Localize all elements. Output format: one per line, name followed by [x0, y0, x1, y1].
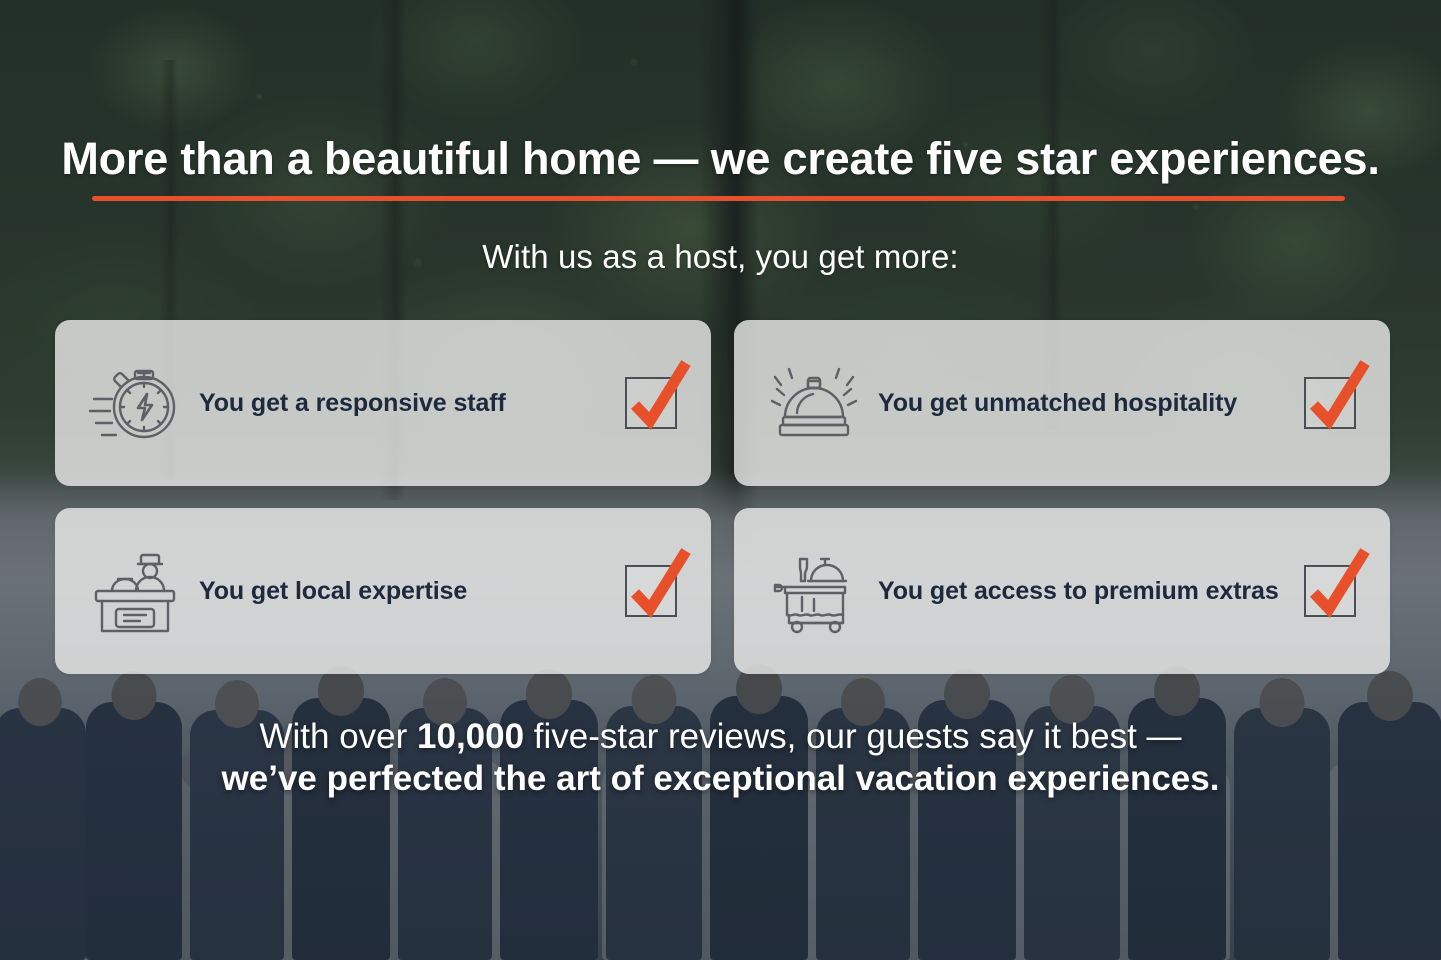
benefit-card-unmatched-hospitality[interactable]: You get unmatched hospitality	[734, 320, 1390, 486]
benefits-grid: You get a responsive staff	[55, 320, 1390, 674]
benefit-card-local-expertise[interactable]: You get local expertise	[55, 508, 711, 674]
reception-desk-icon	[85, 545, 185, 637]
benefit-label: You get unmatched hospitality	[864, 389, 1304, 418]
benefit-checkbox[interactable]	[1304, 377, 1356, 429]
benefit-label: You get a responsive staff	[185, 389, 625, 418]
footer-review-count: 10,000	[417, 717, 524, 756]
benefit-label: You get access to premium extras	[864, 577, 1304, 606]
benefit-label: You get local expertise	[185, 577, 625, 606]
benefit-checkbox[interactable]	[625, 565, 677, 617]
room-service-cart-icon	[764, 545, 864, 637]
benefit-card-premium-extras[interactable]: You get access to premium extras	[734, 508, 1390, 674]
footer-line1-pre: With over	[259, 717, 417, 756]
footer-line2: we’ve perfected the art of exceptional v…	[0, 758, 1441, 800]
title-underline-accent	[92, 196, 1345, 201]
footer-copy: With over 10,000 five-star reviews, our …	[0, 716, 1441, 800]
hero-section: More than a beautiful home — we create f…	[0, 0, 1441, 960]
benefit-checkbox[interactable]	[625, 377, 677, 429]
page-title: More than a beautiful home — we create f…	[0, 135, 1441, 182]
benefit-checkbox[interactable]	[1304, 565, 1356, 617]
footer-line1-post: five-star reviews, our guests say it bes…	[524, 717, 1181, 756]
benefit-card-responsive-staff[interactable]: You get a responsive staff	[55, 320, 711, 486]
page-subtitle: With us as a host, you get more:	[0, 238, 1441, 276]
service-bell-icon	[764, 357, 864, 449]
stopwatch-icon	[85, 357, 185, 449]
